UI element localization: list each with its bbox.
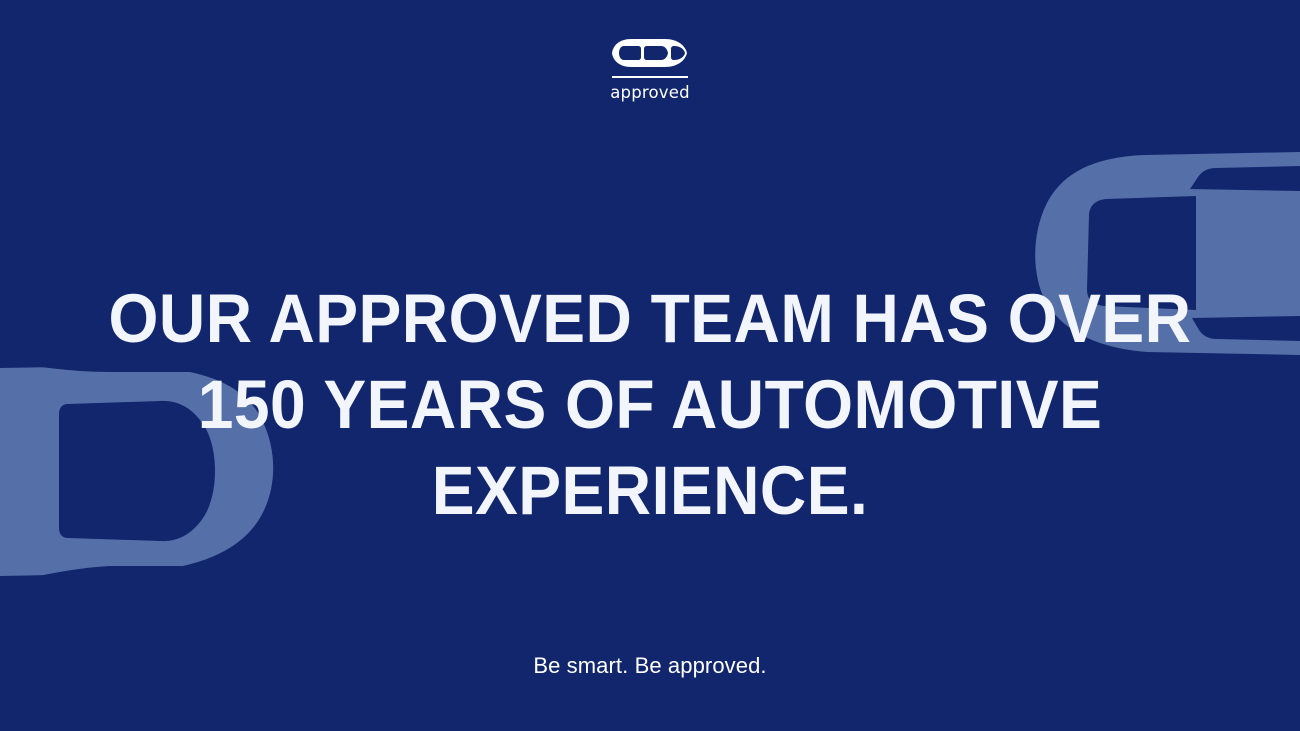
car-top-view-icon (611, 38, 689, 68)
logo-divider (612, 76, 688, 78)
headline-line-2: 150 YEARS OF AUTOMOTIVE (46, 362, 1255, 448)
slide-canvas: approved OUR APPROVED TEAM HAS OVER 150 … (0, 0, 1300, 731)
headline-line-3: EXPERIENCE. (46, 448, 1255, 534)
brand-logo: approved (0, 38, 1300, 102)
headline: OUR APPROVED TEAM HAS OVER 150 YEARS OF … (0, 276, 1300, 534)
logo-wordmark: approved (610, 85, 690, 102)
tagline: Be smart. Be approved. (0, 652, 1300, 680)
headline-line-1: OUR APPROVED TEAM HAS OVER (46, 276, 1255, 362)
